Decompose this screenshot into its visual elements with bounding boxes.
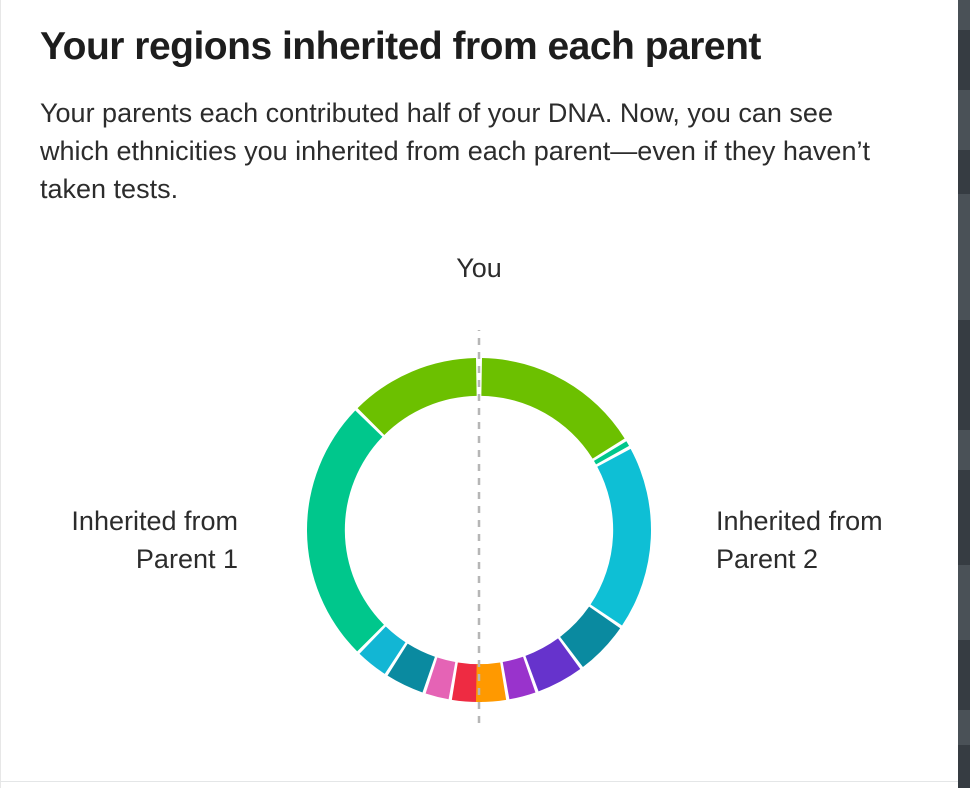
right-edge-mottle bbox=[958, 30, 970, 90]
parent-inheritance-chart: You Inherited from Parent 1 Inherited fr… bbox=[0, 236, 958, 756]
chart-center-label: You bbox=[0, 252, 958, 284]
page-title: Your regions inherited from each parent bbox=[40, 0, 930, 72]
parent2-label-line2: Parent 2 bbox=[716, 540, 956, 578]
page-root: Your regions inherited from each parent … bbox=[0, 0, 970, 788]
donut-chart bbox=[279, 330, 679, 730]
you-label-text: You bbox=[456, 252, 502, 284]
parent1-label: Inherited from Parent 1 bbox=[0, 502, 238, 578]
donut-svg bbox=[279, 330, 679, 730]
parent1-label-line2: Parent 1 bbox=[0, 540, 238, 578]
donut-segment[interactable] bbox=[307, 411, 384, 652]
right-edge-mottle bbox=[958, 150, 970, 194]
content-column: Your regions inherited from each parent … bbox=[40, 0, 930, 208]
donut-segment[interactable] bbox=[481, 358, 624, 459]
page-subtitle: Your parents each contributed half of yo… bbox=[40, 72, 895, 208]
right-edge-mottle bbox=[958, 745, 970, 788]
donut-segment[interactable] bbox=[358, 358, 477, 435]
donut-segment[interactable] bbox=[476, 662, 506, 702]
parent2-label: Inherited from Parent 2 bbox=[716, 502, 956, 578]
donut-segment[interactable] bbox=[591, 449, 651, 626]
right-edge-mottle bbox=[958, 470, 970, 565]
parent1-label-line1: Inherited from bbox=[0, 502, 238, 540]
right-edge-mottle bbox=[958, 640, 970, 710]
parent2-label-line1: Inherited from bbox=[716, 502, 956, 540]
right-edge-panel bbox=[958, 0, 970, 788]
right-edge-mottle bbox=[958, 320, 970, 430]
bottom-divider bbox=[0, 781, 958, 782]
